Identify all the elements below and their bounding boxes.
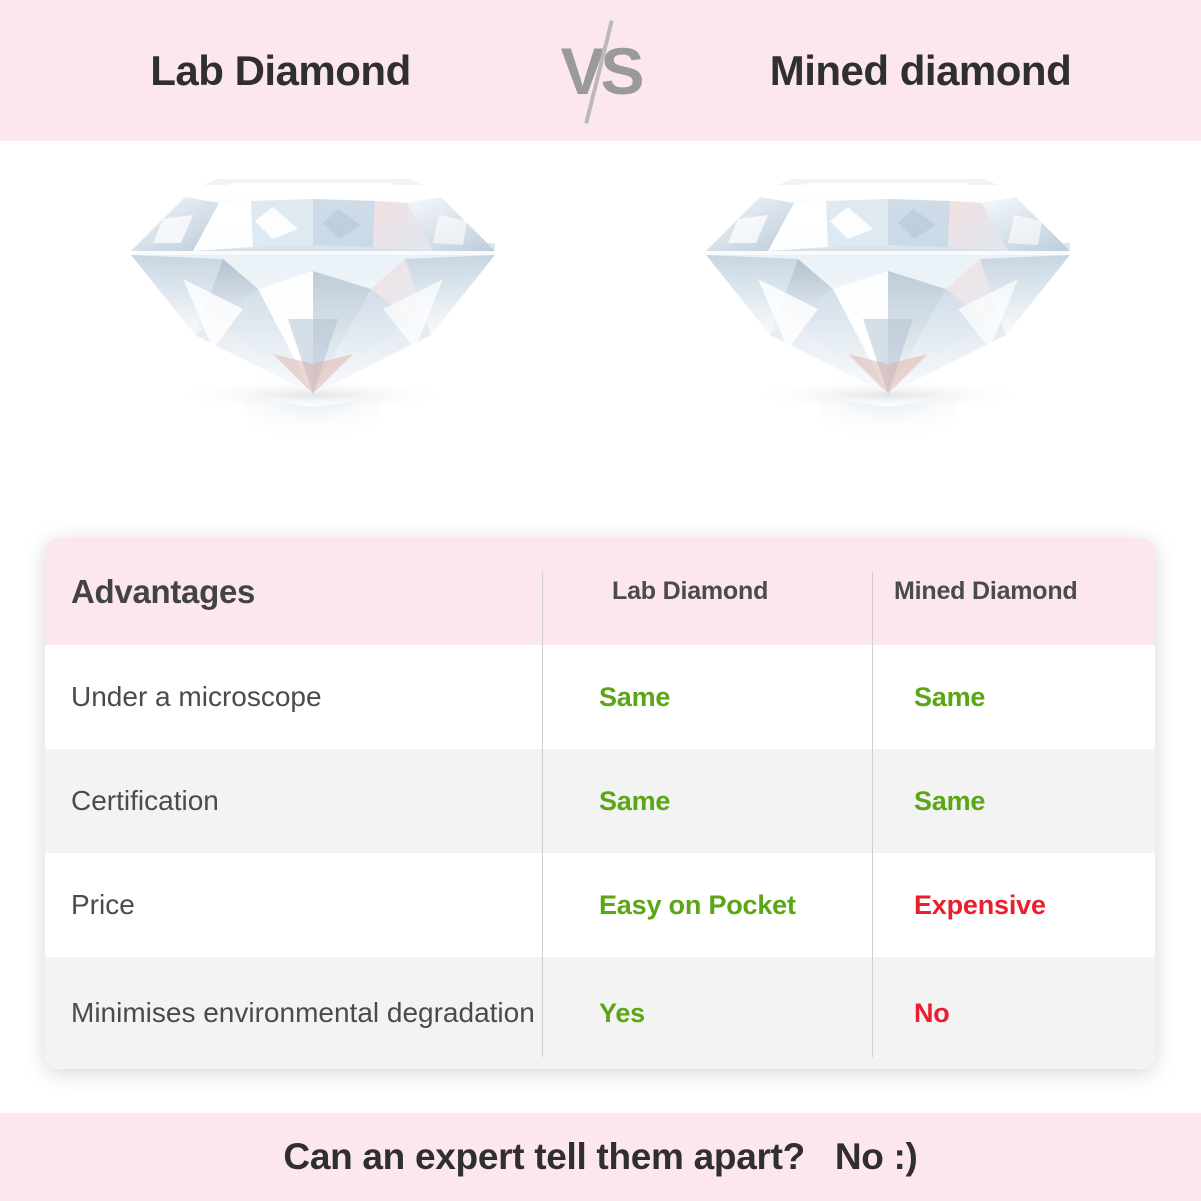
lab-value-cell: Same: [542, 786, 872, 817]
feature-label: Price: [71, 886, 135, 924]
mined-value: Expensive: [914, 890, 1046, 921]
lab-value: Easy on Pocket: [599, 890, 796, 921]
table-row: Certification Same Same: [45, 749, 1155, 853]
header-label-advantages: Advantages: [71, 573, 255, 611]
table-row: Minimises environmental degradation Yes …: [45, 957, 1155, 1069]
comparison-card: Advantages Lab Diamond Mined Diamond Und…: [45, 538, 1155, 1069]
feature-cell: Minimises environmental degradation: [45, 994, 542, 1032]
lab-value: Yes: [599, 998, 645, 1029]
feature-label: Under a microscope: [71, 678, 322, 716]
mined-value: Same: [914, 682, 985, 713]
feature-label: Certification: [71, 782, 219, 820]
table-row: Under a microscope Same Same: [45, 645, 1155, 749]
footer-question: Can an expert tell them apart? No :): [283, 1136, 917, 1178]
feature-cell: Certification: [45, 782, 542, 820]
top-banner: Lab Diamond VS Mined diamond: [0, 0, 1201, 141]
lab-value-cell: Same: [542, 682, 872, 713]
table-header-row: Advantages Lab Diamond Mined Diamond: [45, 538, 1155, 645]
header-label-lab-diamond: Lab Diamond: [612, 577, 768, 606]
mined-value-cell: No: [872, 998, 1155, 1029]
bottom-banner: Can an expert tell them apart? No :): [0, 1113, 1201, 1201]
diamond-images-section: [0, 141, 1201, 531]
versus-badge: VS: [541, 11, 661, 131]
feature-cell: Under a microscope: [45, 678, 542, 716]
mined-value-cell: Same: [872, 682, 1155, 713]
mined-value: Same: [914, 786, 985, 817]
header-cell-mined-diamond: Mined Diamond: [872, 577, 1155, 606]
feature-label: Minimises environmental degradation: [71, 994, 535, 1032]
mined-value: No: [914, 998, 950, 1029]
mined-value-cell: Expensive: [872, 890, 1155, 921]
header-cell-lab-diamond: Lab Diamond: [542, 577, 872, 606]
header-label-mined-diamond: Mined Diamond: [894, 577, 1078, 606]
feature-cell: Price: [45, 886, 542, 924]
lab-value-cell: Yes: [542, 998, 872, 1029]
diamond-icon: [123, 159, 503, 459]
lab-value: Same: [599, 682, 670, 713]
lab-diamond-title: Lab Diamond: [21, 47, 541, 95]
diamond-icon: [698, 159, 1078, 459]
lab-value-cell: Easy on Pocket: [542, 890, 872, 921]
header-cell-advantages: Advantages: [45, 573, 542, 611]
lab-diamond-image: [53, 141, 573, 531]
mined-diamond-image: [628, 141, 1148, 531]
mined-value-cell: Same: [872, 786, 1155, 817]
table-row: Price Easy on Pocket Expensive: [45, 853, 1155, 957]
lab-value: Same: [599, 786, 670, 817]
comparison-table: Advantages Lab Diamond Mined Diamond Und…: [45, 538, 1155, 1069]
mined-diamond-title: Mined diamond: [661, 47, 1181, 95]
